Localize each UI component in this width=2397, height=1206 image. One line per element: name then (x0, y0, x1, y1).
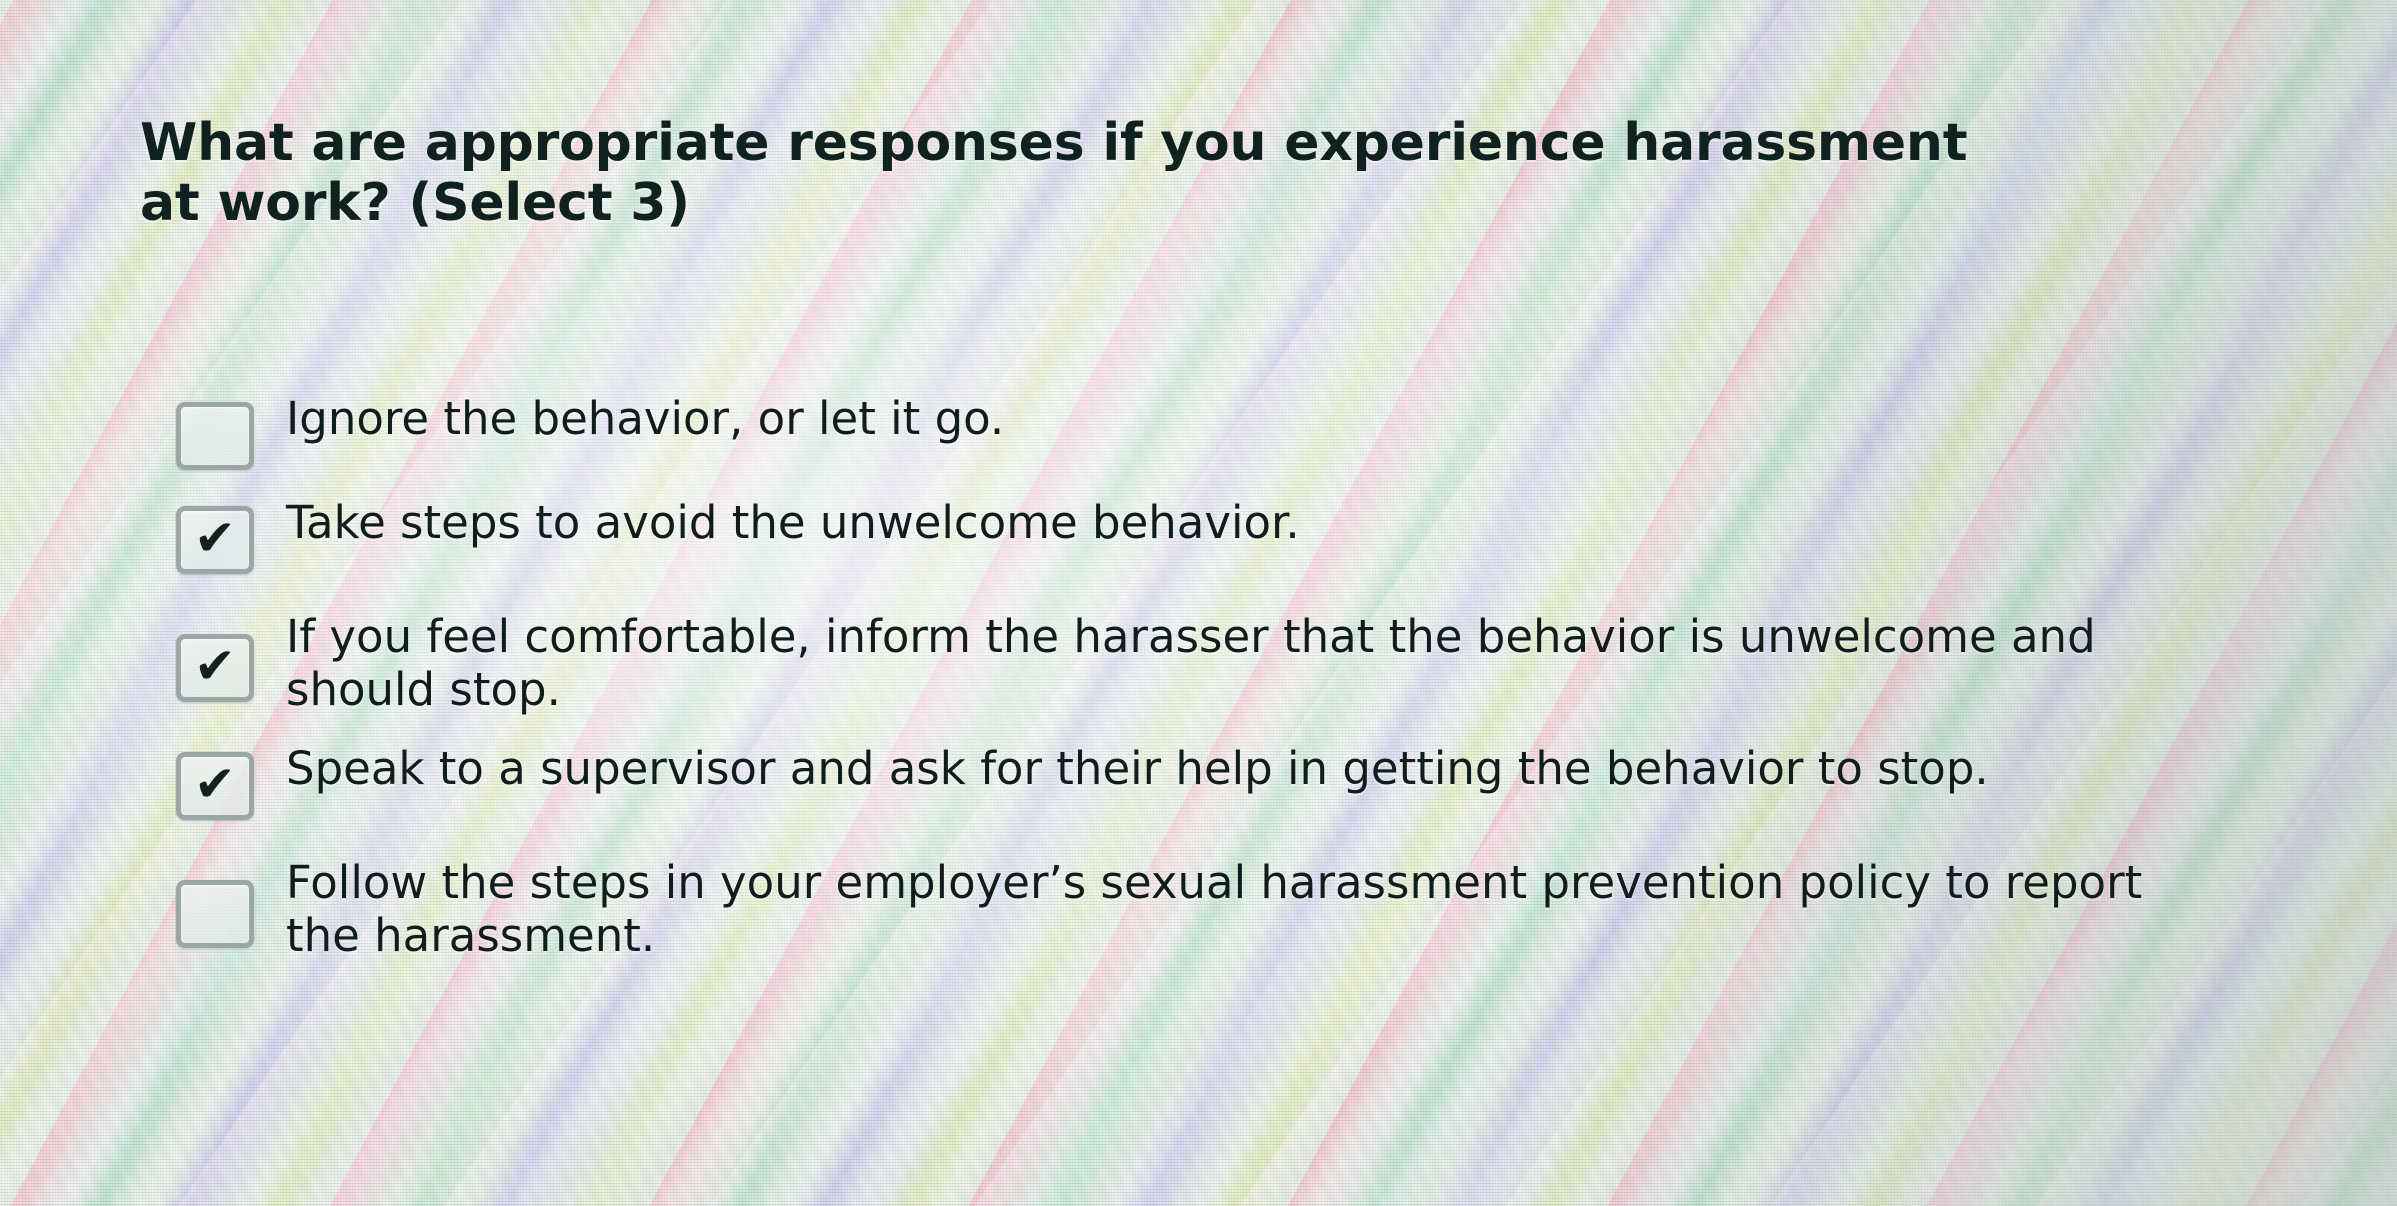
check-mark-icon: ✔ (181, 757, 249, 815)
checkbox-option-3[interactable]: ✔ If you feel comfortable, inform the ha… (176, 610, 2226, 716)
checkbox-3[interactable]: ✔ (176, 634, 254, 702)
checkbox-4[interactable]: ✔ (176, 752, 254, 820)
checkbox-option-2[interactable]: ✔ Take steps to avoid the unwelcome beha… (176, 496, 2226, 574)
checkbox-option-1[interactable]: ✔ Ignore the behavior, or let it go. (176, 392, 2226, 470)
checkbox-1[interactable]: ✔ (176, 402, 254, 470)
checkbox-option-1-label: Ignore the behavior, or let it go. (286, 392, 1004, 445)
checkbox-2[interactable]: ✔ (176, 506, 254, 574)
checkbox-option-5-label: Follow the steps in your employer’s sexu… (286, 856, 2166, 962)
question-title: What are appropriate responses if you ex… (140, 113, 2040, 234)
checkbox-option-4-label: Speak to a supervisor and ask for their … (286, 742, 1989, 795)
check-mark-icon: ✔ (181, 639, 249, 697)
checkbox-option-4[interactable]: ✔ Speak to a supervisor and ask for thei… (176, 742, 2226, 820)
screen-photo-stage: What are appropriate responses if you ex… (0, 0, 2397, 1206)
checkbox-5[interactable]: ✔ (176, 880, 254, 948)
checkbox-option-5[interactable]: ✔ Follow the steps in your employer’s se… (176, 856, 2226, 962)
checkbox-option-list: ✔ Ignore the behavior, or let it go. ✔ T… (176, 392, 2226, 980)
checkbox-option-3-label: If you feel comfortable, inform the hara… (286, 610, 2166, 716)
checkbox-option-2-label: Take steps to avoid the unwelcome behavi… (286, 496, 1300, 549)
check-mark-icon: ✔ (181, 511, 249, 569)
